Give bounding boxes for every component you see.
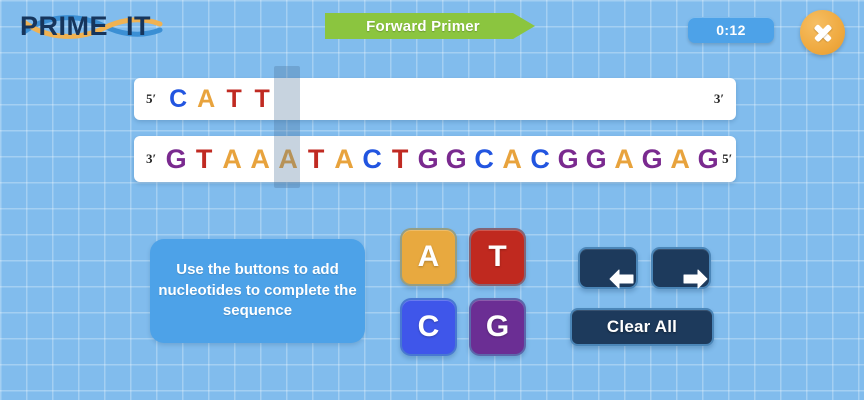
timer-value: 0:12 [716, 22, 746, 38]
close-button[interactable] [800, 10, 845, 55]
template-base-11: C [470, 146, 498, 173]
nucleotide-keypad: A T C G [400, 228, 526, 356]
primer-base-list: CATT [164, 87, 714, 112]
template-base-1: T [190, 146, 218, 173]
primer-base-1: A [192, 87, 220, 112]
template-three-prime-label: 3′ [146, 151, 156, 167]
nucleotide-button-g-label: G [486, 310, 509, 344]
move-cursor-left-button[interactable] [578, 247, 638, 289]
instruction-text: Use the buttons to add nucleotides to co… [158, 260, 357, 322]
nucleotide-button-t[interactable]: T [469, 228, 526, 286]
template-five-prime-label: 5′ [722, 151, 732, 167]
template-base-2: A [218, 146, 246, 173]
prime-it-logo-icon: PRIME IT [18, 6, 168, 48]
clear-all-button[interactable]: Clear All [570, 308, 714, 346]
template-base-9: G [414, 146, 442, 173]
instruction-panel: Use the buttons to add nucleotides to co… [150, 239, 365, 343]
nucleotide-button-g[interactable]: G [469, 298, 526, 356]
template-base-10: G [442, 146, 470, 173]
template-base-3: A [246, 146, 274, 173]
svg-text:PRIME: PRIME [20, 11, 108, 41]
svg-text:IT: IT [126, 11, 151, 41]
template-base-15: G [582, 146, 610, 173]
clear-all-label: Clear All [607, 317, 677, 337]
primer-base-2: T [220, 87, 248, 112]
nucleotide-button-a[interactable]: A [400, 228, 457, 286]
primer-five-prime-label: 5′ [146, 91, 156, 107]
primer-strand[interactable]: 5′ CATT 3′ [134, 78, 736, 120]
app-logo: PRIME IT [18, 6, 168, 48]
nucleotide-button-a-label: A [418, 240, 440, 274]
template-base-16: A [610, 146, 638, 173]
nucleotide-button-c[interactable]: C [400, 298, 457, 356]
nucleotide-button-c-label: C [418, 310, 440, 344]
primer-base-3: T [248, 87, 276, 112]
primer-base-0: C [164, 87, 192, 112]
game-screen: PRIME IT Forward Primer 0:12 5′ CATT 3′ … [0, 0, 864, 400]
template-base-5: T [302, 146, 330, 173]
template-base-19: G [694, 146, 722, 173]
template-strand: 3′ GTAAATACTGGCACGGAGAG 5′ [134, 136, 736, 182]
template-base-18: A [666, 146, 694, 173]
primer-three-prime-label: 3′ [714, 91, 724, 107]
template-base-14: G [554, 146, 582, 173]
phase-banner: Forward Primer [325, 13, 535, 39]
nucleotide-button-t-label: T [488, 240, 506, 274]
template-base-6: A [330, 146, 358, 173]
template-base-13: C [526, 146, 554, 173]
timer-badge: 0:12 [688, 17, 774, 43]
template-base-7: C [358, 146, 386, 173]
template-base-list: GTAAATACTGGCACGGAGAG [162, 146, 722, 173]
template-base-12: A [498, 146, 526, 173]
template-base-4: A [274, 146, 302, 173]
move-cursor-right-button[interactable] [651, 247, 711, 289]
close-icon [812, 22, 834, 44]
template-base-8: T [386, 146, 414, 173]
template-base-0: G [162, 146, 190, 173]
phase-banner-label: Forward Primer [366, 18, 494, 35]
template-base-17: G [638, 146, 666, 173]
